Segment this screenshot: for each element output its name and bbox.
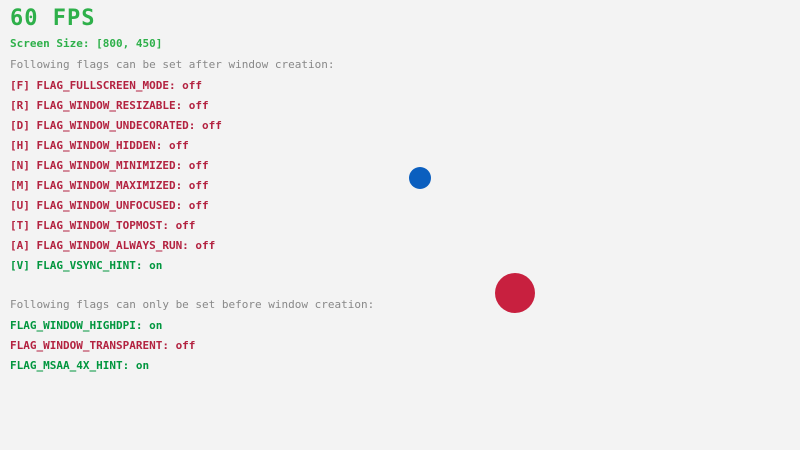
flag-row-window-undecorated[interactable]: [D] FLAG_WINDOW_UNDECORATED: off bbox=[10, 120, 222, 131]
red-circle-shape bbox=[495, 273, 535, 313]
flag-row-window-maximized[interactable]: [M] FLAG_WINDOW_MAXIMIZED: off bbox=[10, 180, 209, 191]
flag-row-window-unfocused[interactable]: [U] FLAG_WINDOW_UNFOCUSED: off bbox=[10, 200, 209, 211]
flag-row-window-always-run[interactable]: [A] FLAG_WINDOW_ALWAYS_RUN: off bbox=[10, 240, 215, 251]
fps-counter: 60 FPS bbox=[10, 8, 95, 30]
flag-row-fullscreen-mode[interactable]: [F] FLAG_FULLSCREEN_MODE: off bbox=[10, 80, 202, 91]
app-canvas[interactable]: 60 FPS Screen Size: [800, 450] Following… bbox=[0, 0, 800, 450]
flag-row-msaa-4x-hint: FLAG_MSAA_4X_HINT: on bbox=[10, 360, 149, 371]
flag-row-window-transparent: FLAG_WINDOW_TRANSPARENT: off bbox=[10, 340, 195, 351]
runtime-flags-heading: Following flags can be set after window … bbox=[10, 59, 335, 70]
flag-row-window-highdpi: FLAG_WINDOW_HIGHDPI: on bbox=[10, 320, 162, 331]
flag-row-window-topmost[interactable]: [T] FLAG_WINDOW_TOPMOST: off bbox=[10, 220, 195, 231]
flag-row-vsync-hint[interactable]: [V] FLAG_VSYNC_HINT: on bbox=[10, 260, 162, 271]
flag-row-window-hidden[interactable]: [H] FLAG_WINDOW_HIDDEN: off bbox=[10, 140, 189, 151]
screen-size-label: Screen Size: [800, 450] bbox=[10, 38, 162, 49]
flag-row-window-minimized[interactable]: [N] FLAG_WINDOW_MINIMIZED: off bbox=[10, 160, 209, 171]
blue-circle-shape bbox=[409, 167, 431, 189]
creation-flags-heading: Following flags can only be set before w… bbox=[10, 299, 374, 310]
flag-row-window-resizable[interactable]: [R] FLAG_WINDOW_RESIZABLE: off bbox=[10, 100, 209, 111]
